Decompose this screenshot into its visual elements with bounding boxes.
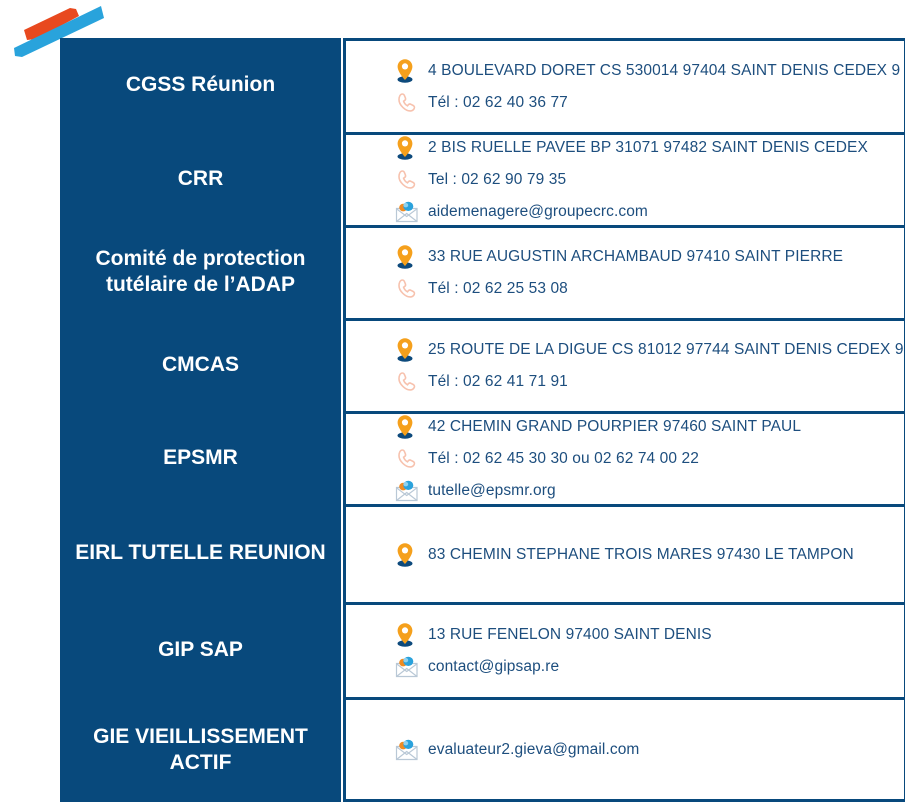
contact-email-text: evaluateur2.gieva@gmail.com (428, 741, 639, 759)
email-icon (394, 654, 428, 680)
organisation-name: Comité de protection tutélaire de l’ADAP (60, 225, 341, 318)
contact-line-phone: Tel : 02 62 90 79 35 (394, 167, 904, 193)
contact-details-cell: 2 BIS RUELLE PAVEE BP 31071 97482 SAINT … (343, 132, 905, 225)
phone-icon (394, 90, 428, 116)
organisation-name: EIRL TUTELLE REUNION (60, 504, 341, 602)
contact-address-text: 4 BOULEVARD DORET CS 530014 97404 SAINT … (428, 62, 900, 80)
contact-details-cell: 25 ROUTE DE LA DIGUE CS 81012 97744 SAIN… (343, 318, 905, 411)
contact-email-text: contact@gipsap.re (428, 658, 559, 676)
contact-email-text: tutelle@epsmr.org (428, 482, 556, 500)
contact-email-text: aidemenagere@groupecrc.com (428, 203, 648, 221)
contact-details-cell: 42 CHEMIN GRAND POURPIER 97460 SAINT PAU… (343, 411, 905, 504)
contact-line-email[interactable]: tutelle@epsmr.org (394, 478, 904, 504)
map-pin-icon (394, 414, 428, 440)
contact-details-cell: 83 CHEMIN STEPHANE TROIS MARES 97430 LE … (343, 504, 905, 602)
organisation-label: CRR (178, 166, 224, 192)
organisation-label: EIRL TUTELLE REUNION (75, 540, 325, 566)
phone-icon (394, 446, 428, 472)
contact-line-phone: Tél : 02 62 25 53 08 (394, 276, 904, 302)
contact-line-address: 4 BOULEVARD DORET CS 530014 97404 SAINT … (394, 58, 904, 84)
contact-details-cell: evaluateur2.gieva@gmail.com (343, 697, 905, 802)
contact-address-text: 2 BIS RUELLE PAVEE BP 31071 97482 SAINT … (428, 139, 868, 157)
contact-phone-text: Tél : 02 62 45 30 30 ou 02 62 74 00 22 (428, 450, 699, 468)
map-pin-icon (394, 542, 428, 568)
contact-address-text: 25 ROUTE DE LA DIGUE CS 81012 97744 SAIN… (428, 341, 904, 359)
organisation-name: GIE VIEILLISSEMENT ACTIF (60, 697, 341, 802)
contact-line-address: 25 ROUTE DE LA DIGUE CS 81012 97744 SAIN… (394, 337, 904, 363)
contact-phone-text: Tél : 02 62 25 53 08 (428, 280, 568, 298)
map-pin-icon (394, 622, 428, 648)
contact-phone-text: Tél : 02 62 40 36 77 (428, 94, 568, 112)
contact-details-cell: 4 BOULEVARD DORET CS 530014 97404 SAINT … (343, 38, 905, 132)
contact-phone-text: Tél : 02 62 41 71 91 (428, 373, 568, 391)
organisation-name: EPSMR (60, 411, 341, 504)
contact-line-email[interactable]: aidemenagere@groupecrc.com (394, 199, 904, 225)
contact-address-text: 83 CHEMIN STEPHANE TROIS MARES 97430 LE … (428, 546, 854, 564)
map-pin-icon (394, 58, 428, 84)
contact-line-address: 13 RUE FENELON 97400 SAINT DENIS (394, 622, 904, 648)
phone-icon (394, 167, 428, 193)
map-pin-icon (394, 135, 428, 161)
organisation-name: CGSS Réunion (60, 38, 341, 132)
map-pin-icon (394, 244, 428, 270)
contact-details-column: 4 BOULEVARD DORET CS 530014 97404 SAINT … (343, 38, 905, 802)
phone-icon (394, 276, 428, 302)
organisation-label: GIE VIEILLISSEMENT ACTIF (74, 724, 327, 775)
contact-details-cell: 33 RUE AUGUSTIN ARCHAMBAUD 97410 SAINT P… (343, 225, 905, 318)
contact-line-address: 83 CHEMIN STEPHANE TROIS MARES 97430 LE … (394, 542, 904, 568)
organisation-name: CRR (60, 132, 341, 225)
organisation-label: EPSMR (163, 445, 238, 471)
organisation-label: CGSS Réunion (126, 72, 275, 98)
email-icon (394, 478, 428, 504)
organisation-label: GIP SAP (158, 637, 243, 663)
contact-line-address: 2 BIS RUELLE PAVEE BP 31071 97482 SAINT … (394, 135, 904, 161)
organisation-label: Comité de protection tutélaire de l’ADAP (74, 246, 327, 297)
contact-address-text: 42 CHEMIN GRAND POURPIER 97460 SAINT PAU… (428, 418, 801, 436)
contact-details-cell: 13 RUE FENELON 97400 SAINT DENIScontact@… (343, 602, 905, 697)
contact-line-phone: Tél : 02 62 45 30 30 ou 02 62 74 00 22 (394, 446, 904, 472)
map-pin-icon (394, 337, 428, 363)
email-icon (394, 199, 428, 225)
organisation-name: GIP SAP (60, 602, 341, 697)
contact-line-phone: Tél : 02 62 41 71 91 (394, 369, 904, 395)
contact-address-text: 33 RUE AUGUSTIN ARCHAMBAUD 97410 SAINT P… (428, 248, 843, 266)
phone-icon (394, 369, 428, 395)
organisation-column: CGSS RéunionCRRComité de protection tuté… (60, 38, 341, 802)
email-icon (394, 737, 428, 763)
contact-phone-text: Tel : 02 62 90 79 35 (428, 171, 566, 189)
contact-line-address: 33 RUE AUGUSTIN ARCHAMBAUD 97410 SAINT P… (394, 244, 904, 270)
organisation-label: CMCAS (162, 352, 239, 378)
contact-line-phone: Tél : 02 62 40 36 77 (394, 90, 904, 116)
contact-address-text: 13 RUE FENELON 97400 SAINT DENIS (428, 626, 712, 644)
stripe-red (24, 8, 79, 40)
contact-line-email[interactable]: evaluateur2.gieva@gmail.com (394, 737, 904, 763)
contact-line-address: 42 CHEMIN GRAND POURPIER 97460 SAINT PAU… (394, 414, 904, 440)
contact-table: CGSS RéunionCRRComité de protection tuté… (60, 38, 902, 802)
contact-line-email[interactable]: contact@gipsap.re (394, 654, 904, 680)
organisation-name: CMCAS (60, 318, 341, 411)
